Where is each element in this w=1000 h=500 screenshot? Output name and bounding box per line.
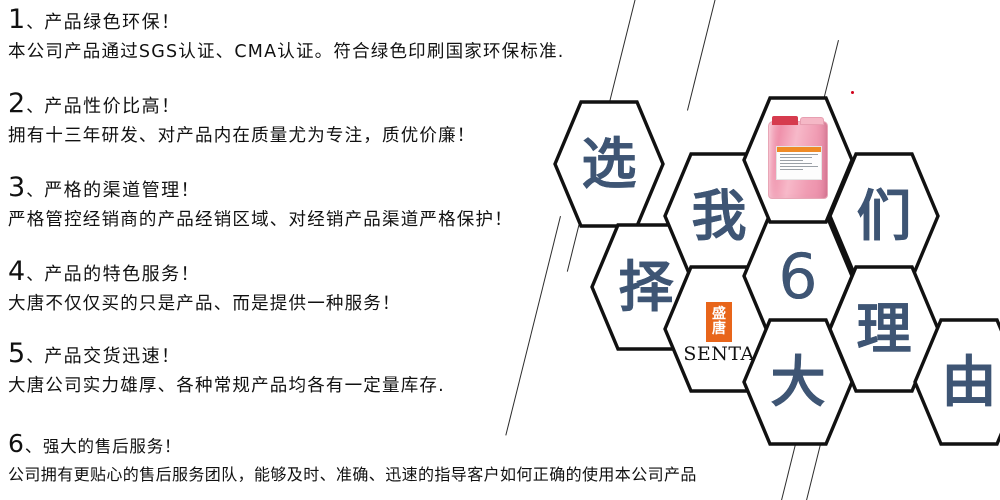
logo-seal-icon: 盛 唐 xyxy=(706,302,732,342)
label-line xyxy=(780,166,818,167)
hex-cell-label: 由 xyxy=(941,355,996,410)
brand-logo: 盛 唐 SENTA xyxy=(683,302,754,364)
hex-cell-label: 我 xyxy=(691,189,746,244)
hex-cell-label: 选 xyxy=(581,137,636,192)
poster-canvas: 1 、 产品绿色环保！ 本公司产品通过SGS认证、CMA认证。符合绿色印刷国家环… xyxy=(0,0,1000,500)
logo-char-2: 唐 xyxy=(712,322,726,337)
label-line xyxy=(780,157,812,158)
label-line xyxy=(780,160,803,161)
label-text-lines xyxy=(777,152,821,174)
label-line xyxy=(780,154,818,155)
hex-cell-xuan: 选 xyxy=(553,100,665,228)
hex-cell-product-photo xyxy=(742,96,854,224)
product-label xyxy=(776,146,822,180)
honeycomb-graphic: 选 择 我 盛 唐 SENTA xyxy=(0,0,1000,500)
label-line xyxy=(780,169,803,170)
hex-cell-you: 由 xyxy=(913,318,1000,446)
label-line xyxy=(780,163,812,164)
logo-char-1: 盛 xyxy=(712,307,726,322)
logo-brand-name: SENTA xyxy=(683,344,754,364)
hex-cell-label: 理 xyxy=(856,302,911,357)
hex-cell-label: 们 xyxy=(856,189,911,244)
hex-cell-label: 大 xyxy=(770,355,825,410)
product-jerrycan-image xyxy=(768,121,828,199)
hex-cell-label: 择 xyxy=(618,260,673,315)
hex-cell-label: 6 xyxy=(778,249,817,304)
